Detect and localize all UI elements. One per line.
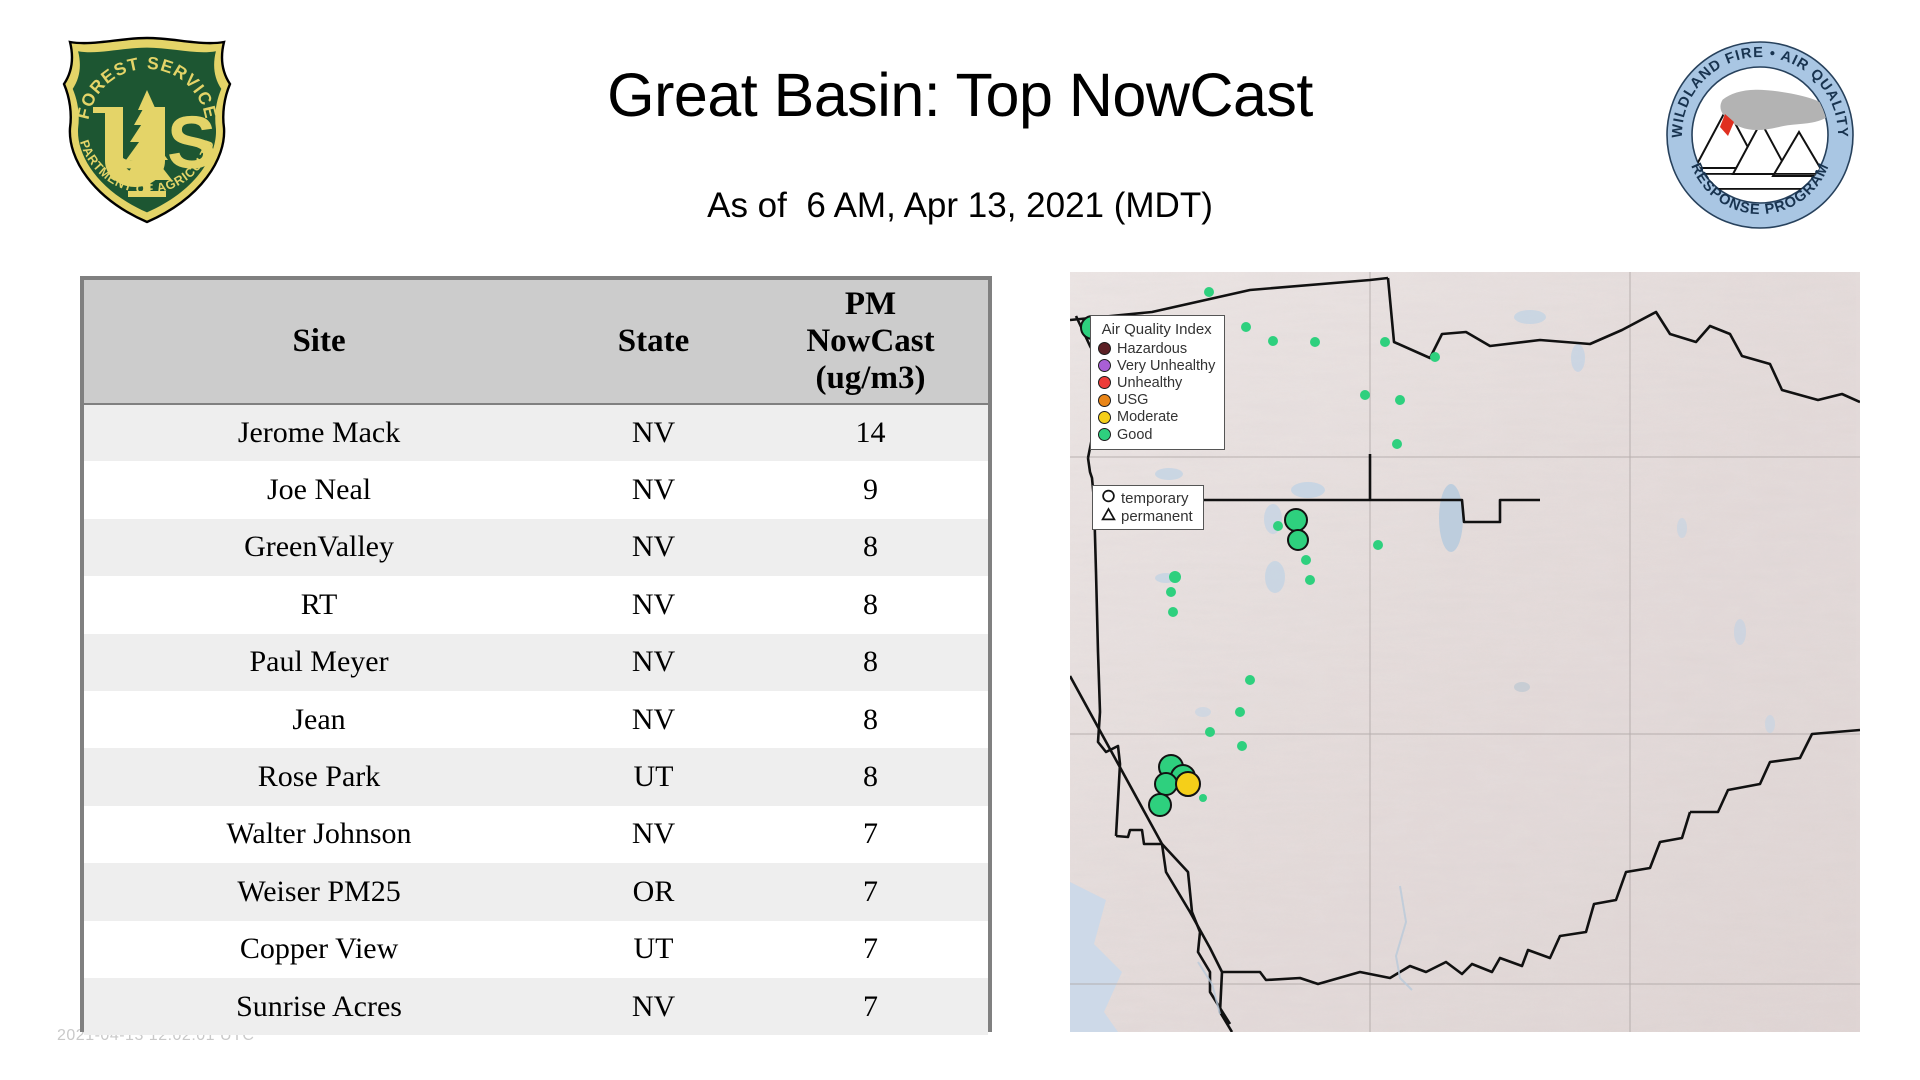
marker-slc-2[interactable] bbox=[1287, 529, 1309, 551]
table-row: Sunrise AcresNV7 bbox=[84, 978, 988, 1035]
site-name: Paul Meyer bbox=[84, 634, 554, 691]
symbol-legend-row-permanent: permanent bbox=[1098, 507, 1193, 525]
table-body: Jerome MackNV14Joe NealNV9GreenValleyNV8… bbox=[84, 404, 988, 1035]
pm-nowcast-value: 9 bbox=[753, 461, 988, 518]
aqi-swatch-icon bbox=[1098, 359, 1111, 372]
marker-site-8[interactable] bbox=[1395, 395, 1405, 405]
state-code: NV bbox=[554, 634, 753, 691]
table-header-row: Site State PM NowCast (ug/m3) bbox=[84, 280, 988, 404]
pm-nowcast-value: 14 bbox=[753, 404, 988, 461]
pm-header-line-1: PM bbox=[845, 286, 896, 322]
site-name: Jean bbox=[84, 691, 554, 748]
pm-header-line-3: (ug/m3) bbox=[815, 360, 925, 396]
column-header-site: Site bbox=[84, 280, 554, 404]
aqi-legend-rows: HazardousVery UnhealthyUnhealthyUSGModer… bbox=[1098, 340, 1215, 443]
site-name: Rose Park bbox=[84, 748, 554, 805]
aqi-legend-row-very-unhealthy: Very Unhealthy bbox=[1098, 357, 1215, 374]
symbol-legend-label-temporary: temporary bbox=[1121, 490, 1189, 507]
pm-nowcast-value: 8 bbox=[753, 576, 988, 633]
marker-site-4[interactable] bbox=[1310, 337, 1320, 347]
aqi-legend-row-hazardous: Hazardous bbox=[1098, 340, 1215, 357]
site-name: Sunrise Acres bbox=[84, 978, 554, 1035]
state-code: NV bbox=[554, 576, 753, 633]
site-name: Joe Neal bbox=[84, 461, 554, 518]
pm-nowcast-value: 7 bbox=[753, 978, 988, 1035]
table-row: Jerome MackNV14 bbox=[84, 404, 988, 461]
marker-site-11[interactable] bbox=[1245, 675, 1255, 685]
table-row: JeanNV8 bbox=[84, 691, 988, 748]
state-code: NV bbox=[554, 461, 753, 518]
aqi-legend-label: Hazardous bbox=[1117, 341, 1187, 357]
site-name: RT bbox=[84, 576, 554, 633]
marker-site-1[interactable] bbox=[1204, 287, 1214, 297]
state-code: NV bbox=[554, 978, 753, 1035]
state-code: OR bbox=[554, 863, 753, 920]
marker-site-9[interactable] bbox=[1392, 439, 1402, 449]
marker-site-10[interactable] bbox=[1373, 540, 1383, 550]
marker-site-13[interactable] bbox=[1205, 727, 1215, 737]
pm-nowcast-value: 7 bbox=[753, 806, 988, 863]
state-code: NV bbox=[554, 691, 753, 748]
triangle-icon bbox=[1098, 507, 1118, 525]
aqi-legend: Air Quality Index HazardousVery Unhealth… bbox=[1090, 315, 1225, 450]
state-code: UT bbox=[554, 748, 753, 805]
marker-slc-5[interactable] bbox=[1305, 575, 1315, 585]
pm-nowcast-value: 8 bbox=[753, 691, 988, 748]
pm-nowcast-value: 8 bbox=[753, 748, 988, 805]
marker-site-14[interactable] bbox=[1237, 741, 1247, 751]
site-name: Weiser PM25 bbox=[84, 863, 554, 920]
aqi-swatch-icon bbox=[1098, 394, 1111, 407]
marker-site-2[interactable] bbox=[1241, 322, 1251, 332]
state-code: UT bbox=[554, 921, 753, 978]
column-header-pm-nowcast: PM NowCast (ug/m3) bbox=[753, 280, 988, 404]
top-nowcast-table: Site State PM NowCast (ug/m3) Jerome Mac… bbox=[80, 276, 992, 1032]
pm-nowcast-value: 8 bbox=[753, 634, 988, 691]
table-row: RTNV8 bbox=[84, 576, 988, 633]
circle-icon bbox=[1098, 489, 1118, 507]
great-basin-aqi-map[interactable]: Air Quality Index HazardousVery Unhealth… bbox=[1070, 272, 1860, 1032]
table-row: GreenValleyNV8 bbox=[84, 519, 988, 576]
aqi-legend-label: Moderate bbox=[1117, 409, 1178, 425]
aqi-legend-row-unhealthy: Unhealthy bbox=[1098, 374, 1215, 391]
aqi-legend-label: Very Unhealthy bbox=[1117, 358, 1215, 374]
marker-reno-1[interactable] bbox=[1169, 571, 1181, 583]
slide-title: Great Basin: Top NowCast bbox=[280, 60, 1640, 130]
table-row: Walter JohnsonNV7 bbox=[84, 806, 988, 863]
symbol-legend-row-temporary: temporary bbox=[1098, 489, 1193, 507]
usda-forest-service-shield-logo: U S FOREST SERVICE DEPARTMENT OF AGRICUL… bbox=[52, 32, 242, 227]
aqi-legend-label: USG bbox=[1117, 392, 1148, 408]
aqi-legend-label: Good bbox=[1117, 427, 1152, 443]
table-row: Paul MeyerNV8 bbox=[84, 634, 988, 691]
slide-canvas: 2021-04-13 12:02:01 UTC U S bbox=[0, 0, 1920, 1080]
aqi-legend-label: Unhealthy bbox=[1117, 375, 1182, 391]
pm-nowcast-value: 7 bbox=[753, 863, 988, 920]
pm-header-line-2: NowCast bbox=[806, 323, 934, 359]
state-code: NV bbox=[554, 519, 753, 576]
aqi-swatch-icon bbox=[1098, 376, 1111, 389]
table-row: Weiser PM25OR7 bbox=[84, 863, 988, 920]
site-name: Jerome Mack bbox=[84, 404, 554, 461]
marker-site-7[interactable] bbox=[1360, 390, 1370, 400]
marker-reno-3[interactable] bbox=[1168, 607, 1178, 617]
table-row: Joe NealNV9 bbox=[84, 461, 988, 518]
pm-nowcast-value: 7 bbox=[753, 921, 988, 978]
aqi-swatch-icon bbox=[1098, 428, 1111, 441]
table-row: Rose ParkUT8 bbox=[84, 748, 988, 805]
site-name: Walter Johnson bbox=[84, 806, 554, 863]
aqi-swatch-icon bbox=[1098, 342, 1111, 355]
state-code: NV bbox=[554, 806, 753, 863]
column-header-state: State bbox=[554, 280, 753, 404]
aqi-legend-row-moderate: Moderate bbox=[1098, 409, 1215, 426]
marker-lv-5[interactable] bbox=[1199, 794, 1207, 802]
wfaqrp-logo: WILDLAND FIRE • AIR QUALITY RESPONSE PRO… bbox=[1665, 40, 1855, 230]
marker-site-6[interactable] bbox=[1430, 352, 1440, 362]
pm-nowcast-value: 8 bbox=[753, 519, 988, 576]
symbol-legend-label-permanent: permanent bbox=[1121, 508, 1193, 525]
aqi-legend-row-good: Good bbox=[1098, 426, 1215, 443]
marker-lv-moderate[interactable] bbox=[1175, 771, 1201, 797]
marker-slc-4[interactable] bbox=[1301, 555, 1311, 565]
slide-subtitle: As of 6 AM, Apr 13, 2021 (MDT) bbox=[280, 186, 1640, 226]
symbol-legend: temporary permanent bbox=[1092, 485, 1204, 530]
aqi-swatch-icon bbox=[1098, 411, 1111, 424]
site-name: Copper View bbox=[84, 921, 554, 978]
table-row: Copper ViewUT7 bbox=[84, 921, 988, 978]
aqi-legend-title: Air Quality Index bbox=[1098, 321, 1215, 338]
marker-reno-2[interactable] bbox=[1166, 587, 1176, 597]
marker-slc-3[interactable] bbox=[1273, 521, 1283, 531]
aqi-legend-row-usg: USG bbox=[1098, 392, 1215, 409]
marker-lv-4[interactable] bbox=[1148, 793, 1172, 817]
marker-site-12[interactable] bbox=[1235, 707, 1245, 717]
state-code: NV bbox=[554, 404, 753, 461]
marker-site-3[interactable] bbox=[1268, 336, 1278, 346]
site-name: GreenValley bbox=[84, 519, 554, 576]
marker-site-5[interactable] bbox=[1380, 337, 1390, 347]
